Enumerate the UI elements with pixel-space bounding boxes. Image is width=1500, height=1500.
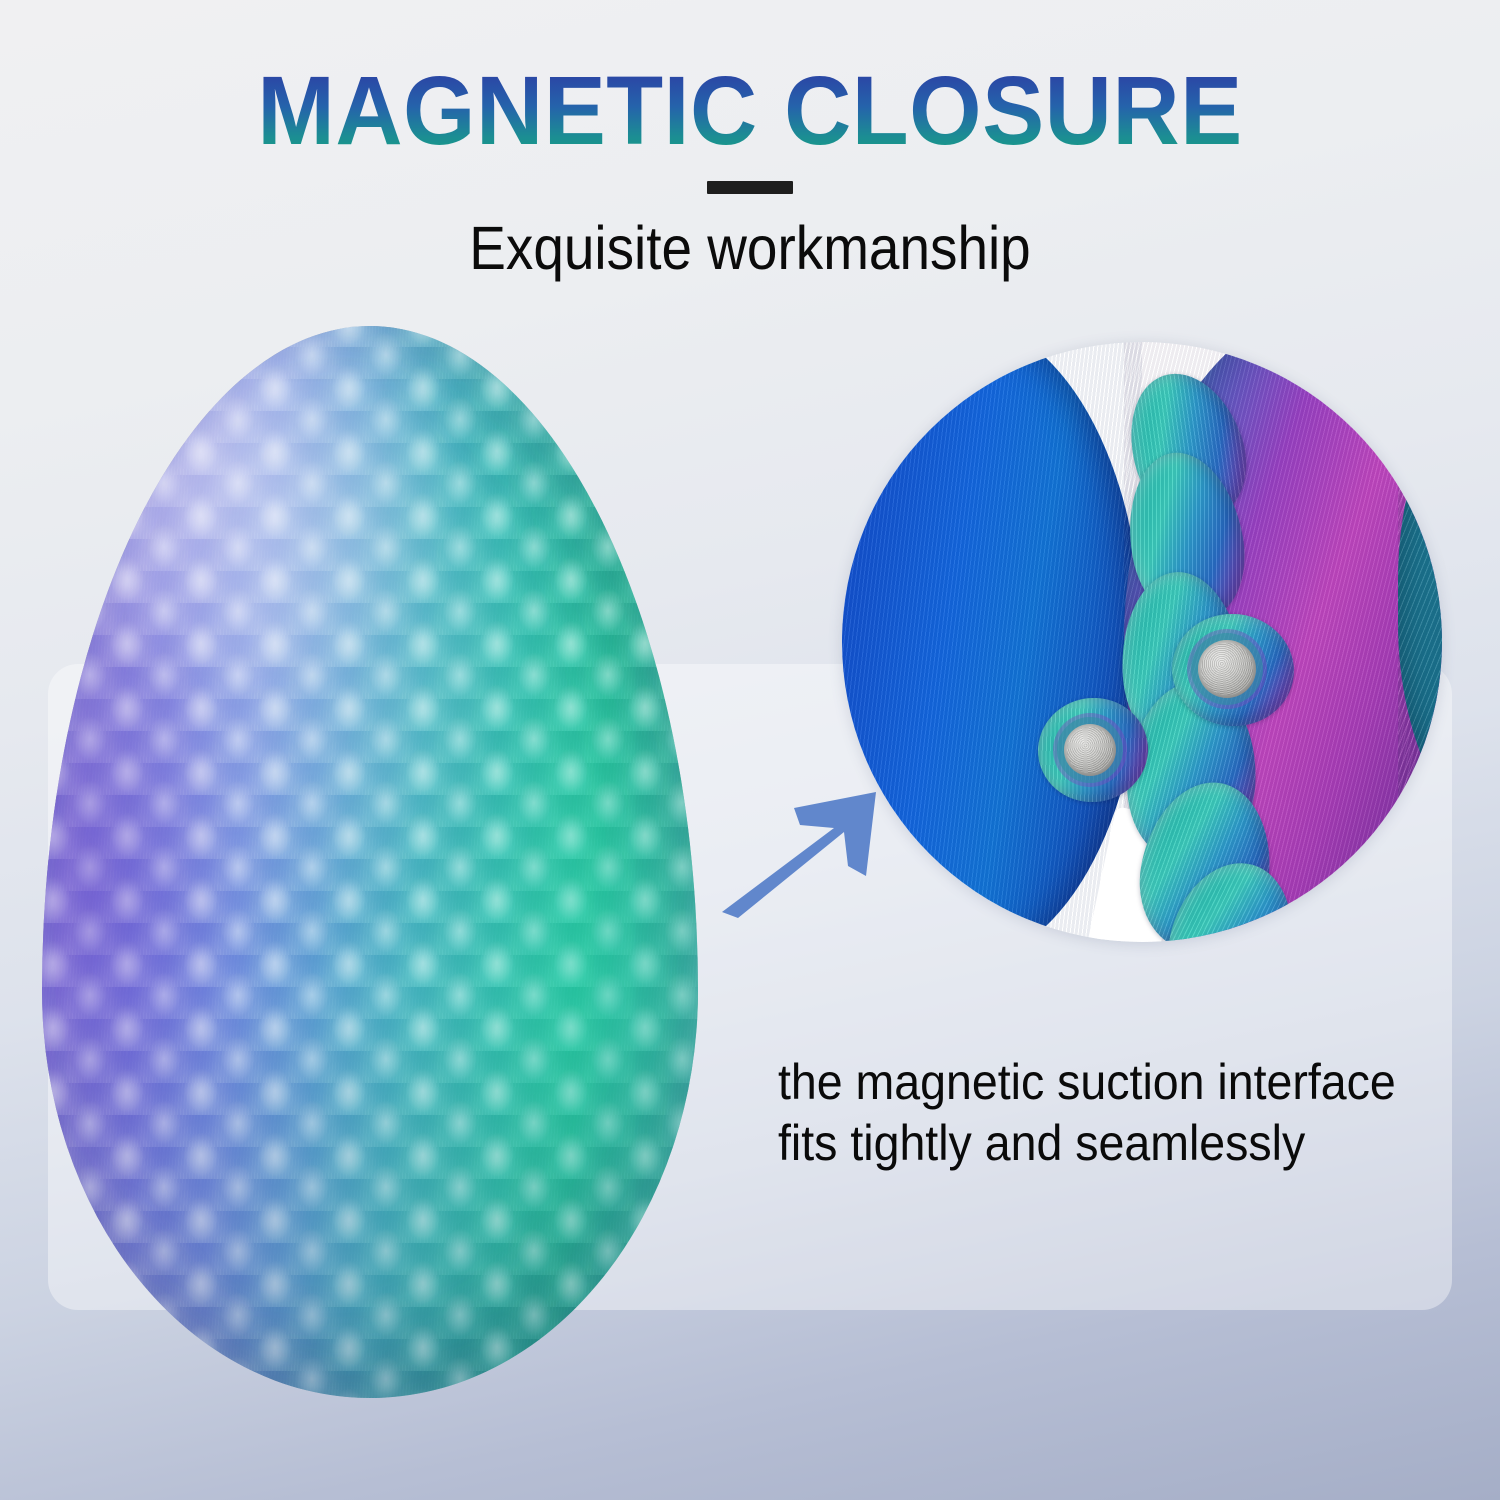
product-infographic: MAGNETIC CLOSURE Exquisite workmanship	[0, 0, 1500, 1500]
detail-inset-circle	[842, 342, 1442, 942]
inset-left-shell-texture	[842, 342, 1142, 942]
egg-scale-highlights	[42, 326, 698, 1398]
page-subtitle: Exquisite workmanship	[75, 216, 1425, 280]
inset-left-shell	[842, 342, 1142, 942]
magnet-disc	[1198, 640, 1256, 698]
inset-right-shell-accent	[1398, 346, 1442, 857]
product-image-dragon-egg	[42, 326, 698, 1398]
caption-line-1: the magnetic suction interface	[778, 1052, 1410, 1113]
header-block: MAGNETIC CLOSURE Exquisite workmanship	[0, 62, 1500, 280]
magnet-disc	[1064, 724, 1116, 776]
caption-line-2: fits tightly and seamlessly	[778, 1113, 1410, 1174]
inset-right-accent-texture	[1398, 346, 1442, 857]
feature-caption: the magnetic suction interface fits tigh…	[778, 1052, 1410, 1174]
egg-body	[42, 326, 698, 1398]
page-title: MAGNETIC CLOSURE	[30, 62, 1470, 159]
title-divider	[707, 181, 793, 194]
